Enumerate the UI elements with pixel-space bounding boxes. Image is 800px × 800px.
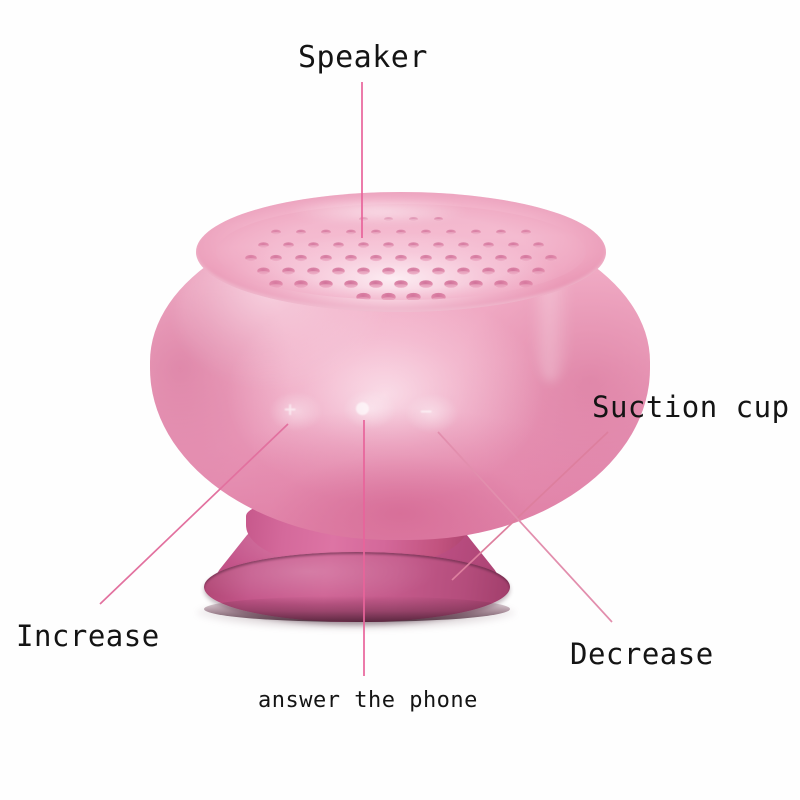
plus-icon: + — [283, 400, 297, 420]
dome-top-highlight — [288, 198, 468, 224]
call-icon: ● — [355, 398, 370, 418]
answer-call-button[interactable] — [342, 390, 400, 436]
label-suction-cup: Suction cup — [592, 390, 790, 424]
label-decrease: Decrease — [570, 637, 714, 671]
suction-cup-rim — [204, 596, 510, 622]
label-increase: Increase — [16, 619, 160, 653]
label-speaker: Speaker — [298, 40, 428, 75]
label-answer-the-phone: answer the phone — [258, 688, 478, 713]
product-diagram: + ● − Speaker S — [0, 0, 800, 800]
minus-icon: − — [419, 402, 433, 422]
